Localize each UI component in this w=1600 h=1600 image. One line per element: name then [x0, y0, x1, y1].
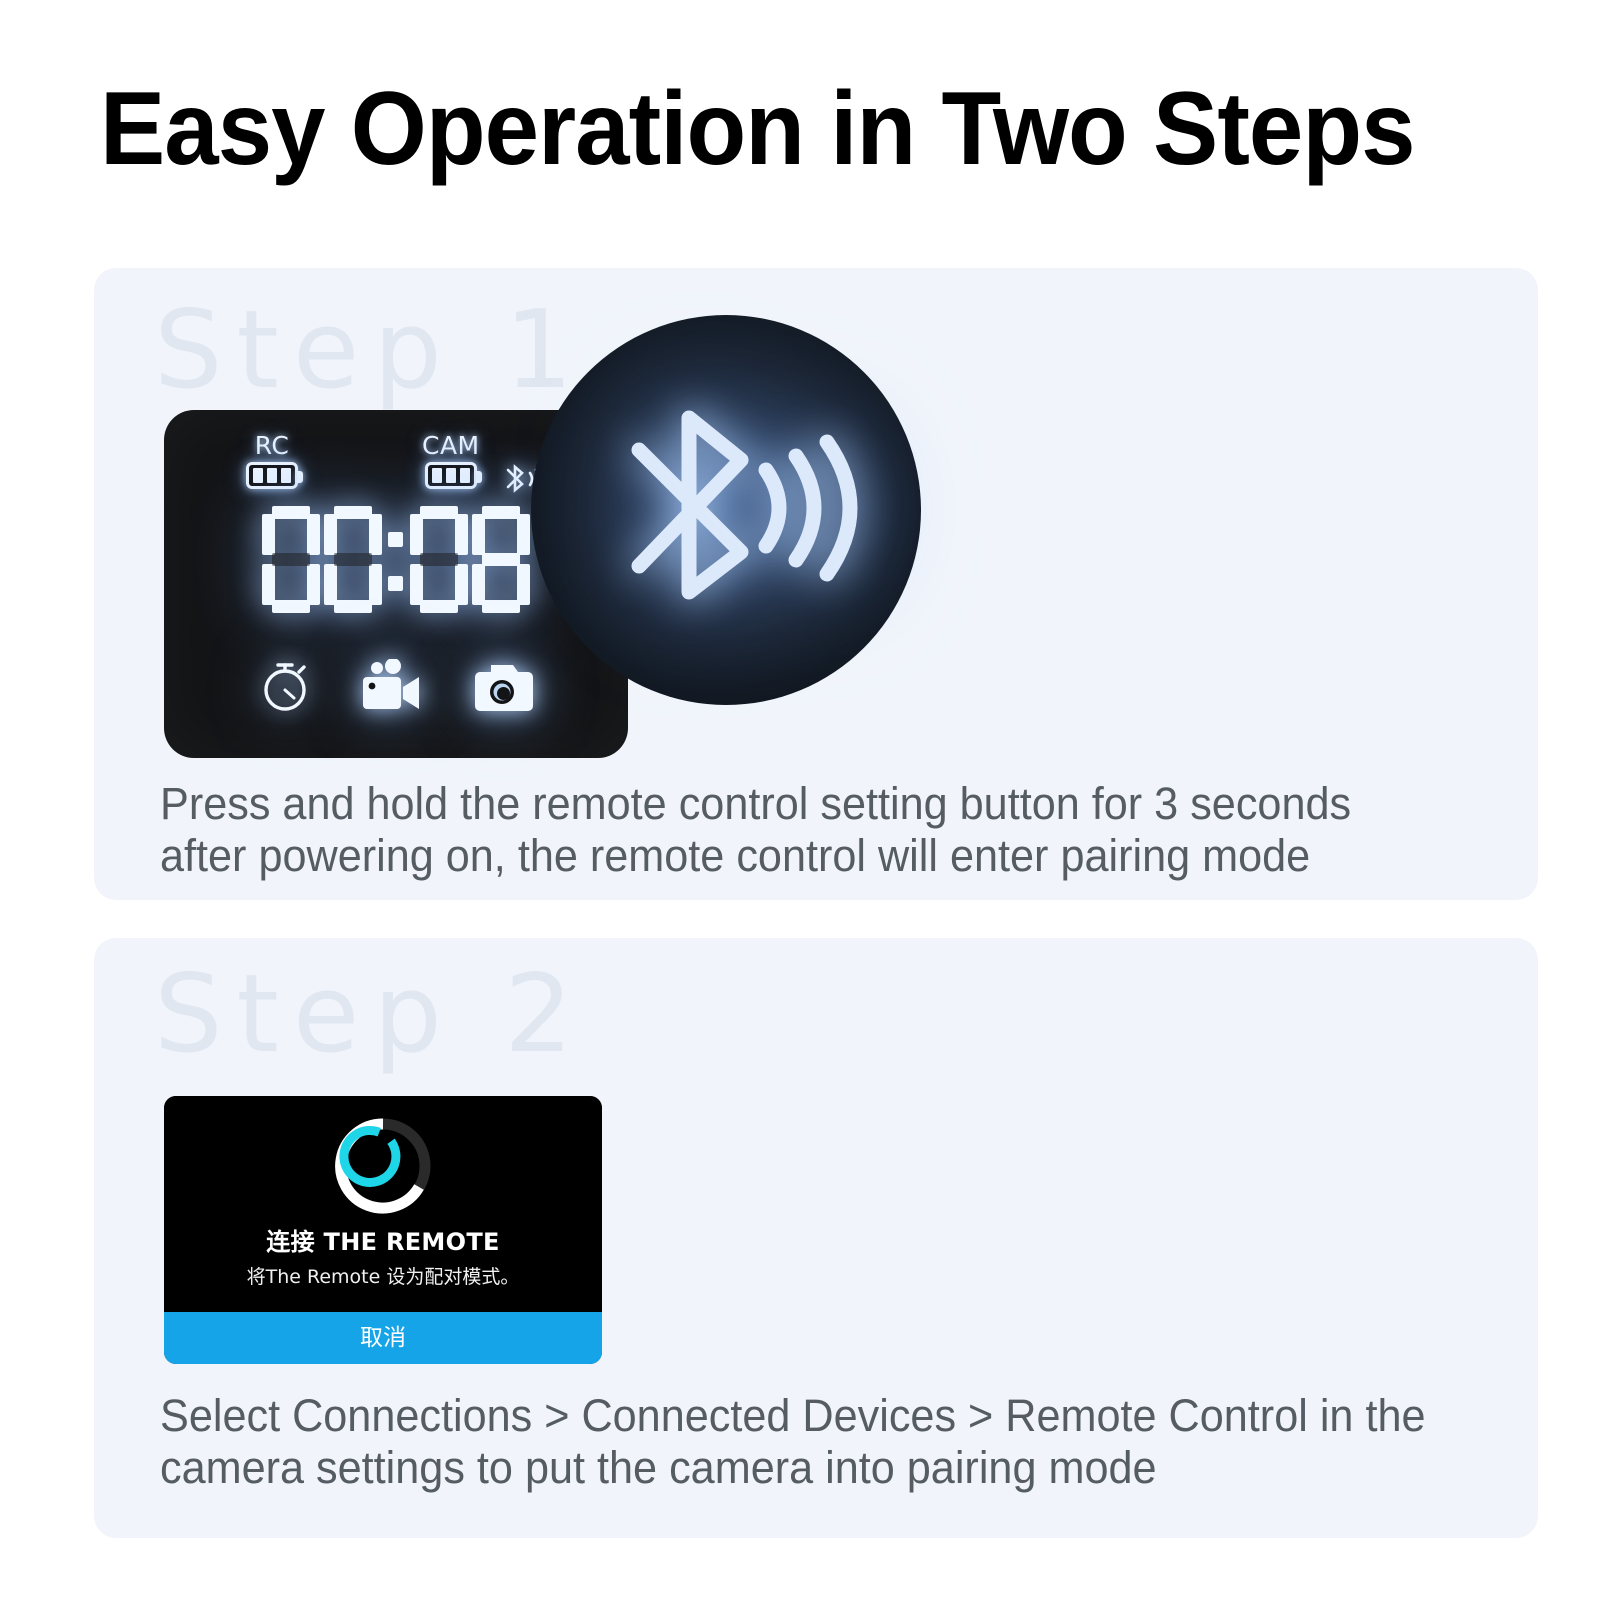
- lcd-mode-icons: [164, 655, 628, 718]
- timer-separator: [386, 506, 406, 614]
- cam-battery-group: CAM: [422, 432, 480, 489]
- timer-digit: [262, 506, 320, 614]
- photo-camera-icon: [469, 661, 535, 718]
- caption-line: Press and hold the remote control settin…: [160, 778, 1351, 829]
- step-1-watermark: Step 1: [154, 296, 587, 406]
- loading-spinner-icon: [331, 1114, 435, 1218]
- caption-line: camera settings to put the camera into p…: [160, 1442, 1157, 1493]
- dialog-subtitle: 将The Remote 设为配对模式。: [164, 1266, 602, 1288]
- dialog-title: 连接 THE REMOTE: [164, 1228, 602, 1256]
- timer-digit: [472, 506, 530, 614]
- cancel-button[interactable]: 取消: [164, 1312, 602, 1364]
- battery-icon: [246, 462, 298, 489]
- timer-digit: [324, 506, 382, 614]
- page-title: Easy Operation in Two Steps: [100, 74, 1435, 184]
- cam-label: CAM: [422, 432, 480, 459]
- caption-line: after powering on, the remote control wi…: [160, 830, 1310, 881]
- step-1-caption: Press and hold the remote control settin…: [160, 778, 1437, 882]
- step-1-card: Step 1 RC CAM: [94, 268, 1538, 900]
- stopwatch-icon: [258, 655, 312, 718]
- battery-icon: [425, 462, 477, 489]
- step-2-card: Step 2 连接 THE REMOTE 将The Remote 设为配对模式。…: [94, 938, 1538, 1538]
- step-2-watermark: Step 2: [154, 960, 587, 1070]
- camera-pairing-dialog: 连接 THE REMOTE 将The Remote 设为配对模式。 取消: [164, 1096, 602, 1364]
- bluetooth-broadcast-icon: [591, 378, 861, 643]
- rc-label: RC: [255, 432, 290, 459]
- timer-display: [262, 506, 530, 614]
- step-2-caption: Select Connections > Connected Devices >…: [160, 1390, 1437, 1494]
- bluetooth-pairing-badge: [531, 315, 921, 705]
- dialog-body: 连接 THE REMOTE 将The Remote 设为配对模式。: [164, 1096, 602, 1312]
- caption-line: Select Connections > Connected Devices >…: [160, 1390, 1426, 1441]
- infographic-page: Easy Operation in Two Steps Step 1 RC CA…: [0, 0, 1600, 1600]
- timer-digit: [410, 506, 468, 614]
- video-camera-icon: [357, 659, 423, 718]
- rc-battery-group: RC: [246, 432, 298, 489]
